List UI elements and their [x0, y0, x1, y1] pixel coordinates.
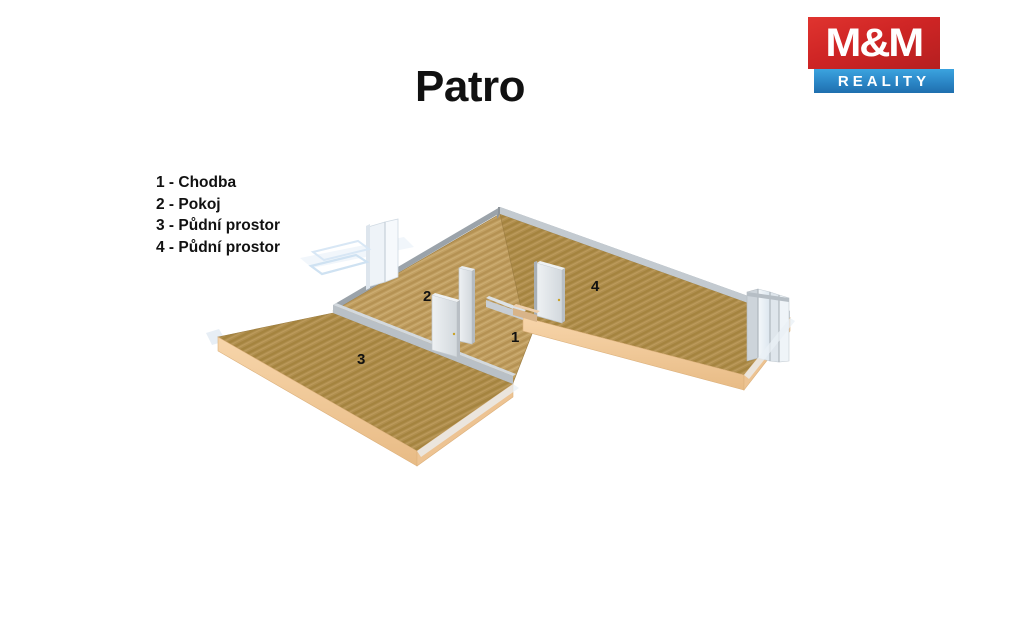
door-hallway-room4[interactable]: [534, 261, 565, 323]
partition-panel-left: [459, 266, 475, 344]
floor-plan-drawing: [0, 0, 1024, 620]
floor-plan-page: Patro M&M REALITY 1 - Chodba 2 - Pokoj 3…: [0, 0, 1024, 620]
door-hallway-room2[interactable]: [432, 293, 460, 357]
